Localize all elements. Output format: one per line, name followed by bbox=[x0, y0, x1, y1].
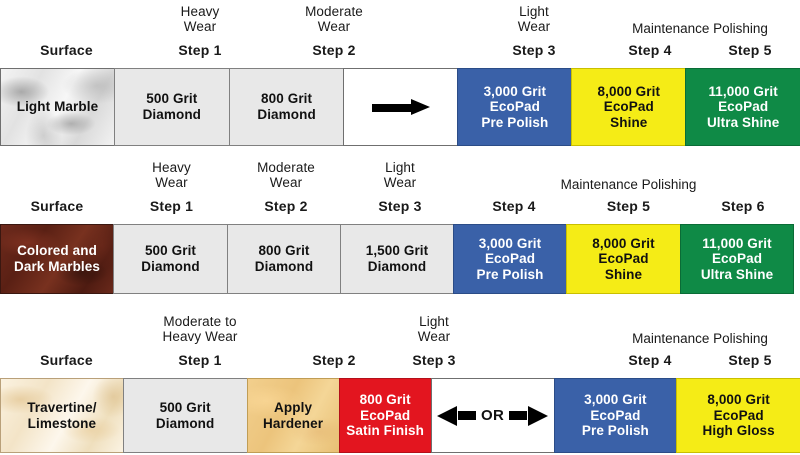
row1-cells: Light Marble 500 Grit Diamond 800 Grit D… bbox=[0, 68, 800, 146]
row3-step5-header: Step 5 bbox=[700, 353, 800, 368]
row1-surface-header: Surface bbox=[0, 43, 133, 58]
row2-step5-cell[interactable]: 8,000 Grit EcoPad Shine bbox=[566, 224, 681, 294]
row1-step3-text: 3,000 Grit EcoPad Pre Polish bbox=[479, 84, 550, 131]
row3-moderate-to-heavy-wear-label: Moderate to Heavy Wear bbox=[133, 315, 267, 344]
row2-step4-header: Step 4 bbox=[457, 199, 571, 214]
row1-moderate-wear-line2: Wear bbox=[267, 20, 401, 35]
row2-step1-cell[interactable]: 500 Grit Diamond bbox=[113, 224, 228, 294]
row3-step3-text: 800 Grit EcoPad Satin Finish bbox=[344, 392, 426, 439]
row3-step1-text: 500 Grit Diamond bbox=[154, 400, 216, 431]
row1-moderate-wear-line1: Moderate bbox=[267, 5, 401, 20]
row2-step6-line1: 11,000 Grit bbox=[702, 236, 771, 251]
row2-light-wear-label: Light Wear bbox=[343, 161, 457, 190]
row2-headers: Heavy Wear Moderate Wear Light Wear Main… bbox=[0, 156, 800, 224]
row2-surface-cell[interactable]: Colored and Dark Marbles bbox=[0, 224, 114, 294]
row1-step3-cell[interactable]: 3,000 Grit EcoPad Pre Polish bbox=[457, 68, 572, 146]
row2-heavy-wear-line2: Wear bbox=[114, 176, 229, 191]
row3-step2-text: Apply Hardener bbox=[261, 400, 325, 431]
row2-step3-text: 1,500 Grit Diamond bbox=[364, 243, 431, 274]
row2-step4-cell[interactable]: 3,000 Grit EcoPad Pre Polish bbox=[453, 224, 567, 294]
row2-step6-cell[interactable]: 11,000 Grit EcoPad Ultra Shine bbox=[680, 224, 794, 294]
row3-step2-line2: Hardener bbox=[263, 416, 323, 431]
row1-headers: Heavy Wear Moderate Wear Light Wear Main… bbox=[0, 0, 800, 68]
row3-headers: Moderate to Heavy Wear Light Wear Mainte… bbox=[0, 310, 800, 378]
or-label: OR bbox=[478, 407, 507, 424]
row1-heavy-wear-line2: Wear bbox=[133, 20, 267, 35]
row1-step5-cell[interactable]: 11,000 Grit EcoPad Ultra Shine bbox=[685, 68, 800, 146]
row1-step1-line2: Diamond bbox=[143, 107, 201, 122]
row1-step1-text: 500 Grit Diamond bbox=[141, 91, 203, 122]
row2-maintenance-polishing-label: Maintenance Polishing bbox=[457, 178, 800, 193]
row1-step2-cell[interactable]: 800 Grit Diamond bbox=[229, 68, 345, 146]
row3-step3-line3: Satin Finish bbox=[346, 423, 424, 438]
row1-step3-header: Step 3 bbox=[467, 43, 601, 58]
row3-step4-header: Step 4 bbox=[600, 353, 700, 368]
row3-step1-cell[interactable]: 500 Grit Diamond bbox=[123, 378, 248, 453]
row1-step4-cell[interactable]: 8,000 Grit EcoPad Shine bbox=[571, 68, 686, 146]
row3-step4-text: 3,000 Grit EcoPad Pre Polish bbox=[580, 392, 651, 439]
row2-step6-text: 11,000 Grit EcoPad Ultra Shine bbox=[699, 236, 775, 283]
row3-moderate-to-heavy-line2: Heavy Wear bbox=[133, 330, 267, 345]
row3-step4-cell[interactable]: 3,000 Grit EcoPad Pre Polish bbox=[554, 378, 678, 453]
row2-step4-line1: 3,000 Grit bbox=[479, 236, 542, 251]
row2-cells: Colored and Dark Marbles 500 Grit Diamon… bbox=[0, 224, 800, 294]
row2-step2-line1: 800 Grit bbox=[258, 243, 309, 258]
row3-step5-cell[interactable]: 8,000 Grit EcoPad High Gloss bbox=[676, 378, 800, 453]
bidirectional-or-indicator: OR bbox=[432, 406, 554, 426]
row1-step2-text: 800 Grit Diamond bbox=[255, 91, 317, 122]
row3-step1-line1: 500 Grit bbox=[160, 400, 211, 415]
row1-step3-line1: 3,000 Grit bbox=[484, 84, 547, 99]
row3-step2-cell[interactable]: Apply Hardener bbox=[247, 378, 340, 453]
row2-light-wear-line1: Light bbox=[343, 161, 457, 176]
row2-moderate-wear-line2: Wear bbox=[229, 176, 343, 191]
row2-step1-line1: 500 Grit bbox=[145, 243, 196, 258]
row1-surface-cell[interactable]: Light Marble bbox=[0, 68, 115, 146]
row3-light-wear-line1: Light bbox=[367, 315, 501, 330]
row1-surface-label: Light Marble bbox=[15, 99, 100, 115]
row3-step3-cell[interactable]: 800 Grit EcoPad Satin Finish bbox=[339, 378, 432, 453]
row3-or-cell: OR bbox=[431, 378, 555, 453]
row1-step3-line3: Pre Polish bbox=[481, 115, 548, 130]
row2-step5-text: 8,000 Grit EcoPad Shine bbox=[590, 236, 657, 283]
row2-step5-line2: EcoPad bbox=[598, 251, 648, 266]
row3-step1-header: Step 1 bbox=[133, 353, 267, 368]
row3-surface-header: Surface bbox=[0, 353, 133, 368]
row3-step4-line3: Pre Polish bbox=[582, 423, 649, 438]
row1-step5-line2: EcoPad bbox=[718, 99, 768, 114]
row2-step5-line3: Shine bbox=[605, 267, 642, 282]
row1-step1-cell[interactable]: 500 Grit Diamond bbox=[114, 68, 230, 146]
row1-step4-line1: 8,000 Grit bbox=[598, 84, 661, 99]
row1-moderate-wear-label: Moderate Wear bbox=[267, 5, 401, 34]
row2-moderate-wear-label: Moderate Wear bbox=[229, 161, 343, 190]
row2-light-wear-line2: Wear bbox=[343, 176, 457, 191]
row2-heavy-wear-label: Heavy Wear bbox=[114, 161, 229, 190]
row2-step2-header: Step 2 bbox=[229, 199, 343, 214]
row1-step4-text: 8,000 Grit EcoPad Shine bbox=[596, 84, 663, 131]
row2-surface-label: Colored and Dark Marbles bbox=[12, 243, 102, 274]
row-colored-dark-marbles: Heavy Wear Moderate Wear Light Wear Main… bbox=[0, 156, 800, 224]
row1-step1-line1: 500 Grit bbox=[146, 91, 197, 106]
row3-step5-line2: EcoPad bbox=[714, 408, 764, 423]
row1-step1-header: Step 1 bbox=[133, 43, 267, 58]
row3-step4-line2: EcoPad bbox=[590, 408, 640, 423]
row2-step6-line3: Ultra Shine bbox=[701, 267, 773, 282]
row1-step4-header: Step 4 bbox=[600, 43, 700, 58]
row1-heavy-wear-label: Heavy Wear bbox=[133, 5, 267, 34]
row2-step3-header: Step 3 bbox=[343, 199, 457, 214]
row3-step1-line2: Diamond bbox=[156, 416, 214, 431]
row-light-marble: Heavy Wear Moderate Wear Light Wear Main… bbox=[0, 0, 800, 68]
row3-surface-line2: Limestone bbox=[28, 416, 96, 431]
row3-surface-line1: Travertine/ bbox=[27, 400, 96, 415]
row3-surface-cell[interactable]: Travertine/ Limestone bbox=[0, 378, 124, 453]
row2-step1-header: Step 1 bbox=[114, 199, 229, 214]
row2-step5-header: Step 5 bbox=[571, 199, 686, 214]
row1-step5-line1: 11,000 Grit bbox=[708, 84, 777, 99]
row2-moderate-wear-line1: Moderate bbox=[229, 161, 343, 176]
row3-step5-line3: High Gloss bbox=[703, 423, 775, 438]
row3-maintenance-polishing-label: Maintenance Polishing bbox=[600, 332, 800, 347]
row1-step3-line2: EcoPad bbox=[490, 99, 540, 114]
row2-step3-line2: Diamond bbox=[368, 259, 426, 274]
row2-step4-line2: EcoPad bbox=[485, 251, 535, 266]
row2-step5-line1: 8,000 Grit bbox=[592, 236, 655, 251]
row1-step5-header: Step 5 bbox=[700, 43, 800, 58]
row1-step2-line2: Diamond bbox=[257, 107, 315, 122]
row3-step5-line1: 8,000 Grit bbox=[707, 392, 770, 407]
row2-surface-line2: Dark Marbles bbox=[14, 259, 100, 274]
arrow-right-icon bbox=[372, 101, 430, 114]
row2-step4-line3: Pre Polish bbox=[476, 267, 543, 282]
row3-step3-header: Step 3 bbox=[367, 353, 501, 368]
row3-moderate-to-heavy-line1: Moderate to bbox=[133, 315, 267, 330]
row2-step2-line2: Diamond bbox=[255, 259, 313, 274]
row1-light-wear-label: Light Wear bbox=[467, 5, 601, 34]
row3-light-wear-line2: Wear bbox=[367, 330, 501, 345]
row1-step4-line2: EcoPad bbox=[604, 99, 654, 114]
row2-step6-header: Step 6 bbox=[686, 199, 800, 214]
row3-step4-line1: 3,000 Grit bbox=[584, 392, 647, 407]
row2-heavy-wear-line1: Heavy bbox=[114, 161, 229, 176]
row2-surface-line1: Colored and bbox=[17, 243, 97, 258]
row2-step4-text: 3,000 Grit EcoPad Pre Polish bbox=[474, 236, 545, 283]
row2-step3-line1: 1,500 Grit bbox=[366, 243, 429, 258]
row3-step2-line1: Apply bbox=[274, 400, 312, 415]
row2-step1-text: 500 Grit Diamond bbox=[139, 243, 201, 274]
polishing-steps-chart: Heavy Wear Moderate Wear Light Wear Main… bbox=[0, 0, 800, 455]
row2-surface-header: Surface bbox=[0, 199, 114, 214]
arrow-right-icon bbox=[528, 406, 548, 426]
row2-step3-cell[interactable]: 1,500 Grit Diamond bbox=[340, 224, 454, 294]
row3-surface-label: Travertine/ Limestone bbox=[25, 400, 98, 431]
row1-maintenance-polishing-label: Maintenance Polishing bbox=[600, 22, 800, 37]
row1-light-wear-line1: Light bbox=[467, 5, 601, 20]
row1-step5-line3: Ultra Shine bbox=[707, 115, 779, 130]
row2-step1-line2: Diamond bbox=[141, 259, 199, 274]
row3-cells: Travertine/ Limestone 500 Grit Diamond A… bbox=[0, 378, 800, 453]
row1-step5-text: 11,000 Grit EcoPad Ultra Shine bbox=[705, 84, 781, 131]
row1-step2-header: Step 2 bbox=[267, 43, 401, 58]
row3-step3-line1: 800 Grit bbox=[360, 392, 411, 407]
row-travertine-limestone: Moderate to Heavy Wear Light Wear Mainte… bbox=[0, 310, 800, 378]
row3-step5-text: 8,000 Grit EcoPad High Gloss bbox=[701, 392, 777, 439]
row3-step3-line2: EcoPad bbox=[360, 408, 410, 423]
row3-light-wear-label: Light Wear bbox=[367, 315, 501, 344]
row1-step2-line1: 800 Grit bbox=[261, 91, 312, 106]
row1-arrow-cell bbox=[343, 68, 458, 146]
row1-light-wear-line2: Wear bbox=[467, 20, 601, 35]
arrow-left-icon bbox=[437, 406, 457, 426]
row2-step6-line2: EcoPad bbox=[712, 251, 762, 266]
row2-step2-cell[interactable]: 800 Grit Diamond bbox=[227, 224, 341, 294]
row1-heavy-wear-line1: Heavy bbox=[133, 5, 267, 20]
row1-step4-line3: Shine bbox=[610, 115, 647, 130]
row2-step2-text: 800 Grit Diamond bbox=[253, 243, 315, 274]
